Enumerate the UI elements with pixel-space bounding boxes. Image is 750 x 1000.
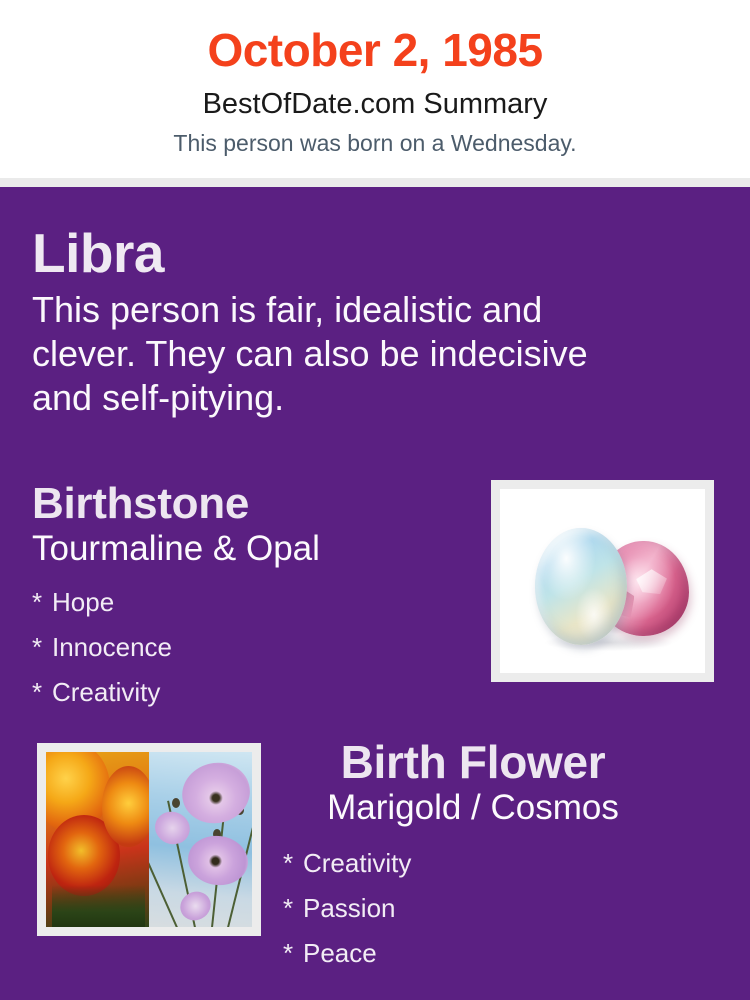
list-item-label: Creativity [303,848,411,878]
birthstone-image [500,489,705,673]
cosmos-bloom-icon [185,832,251,889]
cosmos-bloom-icon [175,886,215,925]
list-item: *Creativity [32,670,472,715]
bullet-star-icon: * [32,670,52,715]
list-item-label: Innocence [52,632,172,662]
birthstone-trait-list: *Hope *Innocence *Creativity [32,580,472,715]
birth-flower-image-frame [37,743,261,936]
marigold-foliage [52,885,145,927]
birth-flower-names: Marigold / Cosmos [283,787,663,829]
list-item: *Innocence [32,625,472,670]
list-item: *Passion [283,886,663,931]
page-title-date: October 2, 1985 [0,22,750,78]
birth-flower-section: Birth Flower Marigold / Cosmos *Creativi… [283,735,663,992]
cosmos-bloom-icon [176,755,252,829]
cosmos-stem [149,834,178,927]
bestofdate-summary-card: October 2, 1985 BestOfDate.com Summary T… [0,0,750,1000]
cosmos-bud [172,798,180,808]
list-item-label: Hope [52,587,114,617]
bullet-star-icon: * [283,886,303,931]
list-item: *Peace [283,931,663,976]
birthstone-heading: Birthstone [32,478,472,530]
bullet-star-icon: * [283,841,303,886]
list-item-label: Peace [303,938,377,968]
birthstone-image-frame [491,480,714,682]
opal-gem-icon [535,528,627,646]
birthstone-section: Birthstone Tourmaline & Opal *Hope *Inno… [32,478,472,731]
birth-flower-trait-list: *Creativity *Passion *Peace [283,841,663,976]
zodiac-description: This person is fair, idealistic and clev… [32,288,612,420]
content-panel: Libra This person is fair, idealistic an… [0,187,750,1000]
bullet-star-icon: * [32,625,52,670]
marigold-bloom-icon [102,766,149,847]
weekday-note: This person was born on a Wednesday. [0,128,750,158]
birth-flower-image [46,752,252,927]
zodiac-section: Libra This person is fair, idealistic an… [32,222,632,420]
bullet-star-icon: * [32,580,52,625]
list-item-label: Creativity [52,677,160,707]
header-divider [0,178,750,187]
birth-flower-heading: Birth Flower [283,735,663,789]
site-subtitle: BestOfDate.com Summary [0,86,750,122]
bullet-star-icon: * [283,931,303,976]
cosmos-photo-half [149,752,252,927]
list-item: *Hope [32,580,472,625]
birthstone-names: Tourmaline & Opal [32,528,472,570]
list-item: *Creativity [283,841,663,886]
marigold-photo-half [46,752,149,927]
zodiac-sign-heading: Libra [32,222,632,284]
header: October 2, 1985 BestOfDate.com Summary T… [0,0,750,178]
list-item-label: Passion [303,893,396,923]
